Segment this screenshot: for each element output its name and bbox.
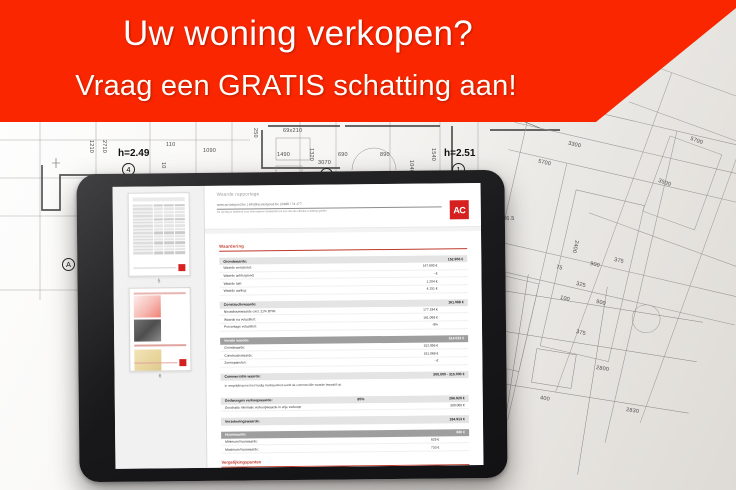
commercial-value-note: In vergelijking met het huidig marktaanb…: [221, 378, 469, 392]
tablet-screen: 5: [113, 183, 484, 469]
block-commerciele-waarde: Commerciële waarde: 300.000 - 315.000 € …: [220, 371, 468, 392]
blueprint-dim-890: 890: [380, 152, 390, 158]
blueprint-dim-10: 10: [160, 162, 166, 169]
block-label: Gedwongen verkoopwaarde:: [225, 398, 273, 403]
row-label: Waarde na vetustiteit:: [224, 315, 418, 321]
blueprint-dim-1090: 1090: [203, 148, 216, 154]
row-value: 147.600 €: [417, 264, 463, 268]
thumbnail-page-number-2: 6: [159, 373, 162, 379]
block-gedwongen-verkoopwaarde: Gedwongen verkoopwaarde: 85% 266.920 € G…: [221, 395, 469, 412]
blueprint-dim-110: 110: [166, 142, 175, 148]
block-label: Huurwaarde:: [225, 433, 246, 437]
advert-image: h=2.49 4 h=2.51 1 7 A 1210 2710 110 1090…: [0, 0, 736, 490]
pdf-page-view[interactable]: Waarde rapportage www.acvastgoed.be | in…: [205, 183, 484, 468]
blueprint-dim-690: 690: [338, 152, 348, 158]
blueprint-height-right: h=2.51: [444, 148, 475, 159]
block-header: Verzekeringswaarde: 194.913 €: [221, 416, 469, 426]
blueprint-dim-1320: 1320: [308, 148, 314, 161]
row-value: 161.068 €: [418, 315, 464, 319]
row-value: 300.000 €: [419, 403, 465, 407]
block-constructiewaarde: Constructiewaarde: 161.068 € Nieuwbouwwa…: [220, 299, 468, 332]
blueprint-dim-2710: 2710: [101, 140, 107, 153]
table-row: Zonnepanelen: - €: [220, 357, 468, 367]
blueprint-marker-a: A: [62, 258, 75, 271]
blueprint-dim-69x210: 69x210: [283, 128, 302, 134]
row-value: 152.956 €: [418, 343, 464, 347]
row-label: Minimum huurwaarde:: [225, 438, 419, 444]
blueprint-roll-dim-75: 75: [555, 264, 563, 271]
thumbnail-image-grid-page[interactable]: [128, 287, 191, 372]
thumb-logo-icon: [178, 264, 185, 271]
block-venale-waarde: Venale waarde: 314.023 € Grondwaarde: 15…: [220, 335, 468, 368]
row-value: - €: [418, 358, 464, 362]
block-label: Verzekeringswaarde:: [225, 419, 260, 423]
block-total: 194.913 €: [449, 417, 465, 421]
row-value: 629 €: [419, 437, 465, 441]
row-value: 1.204 €: [418, 279, 464, 283]
row-label: Waarde achtergrond:: [223, 272, 417, 278]
blueprint-dim-1210: 1210: [88, 140, 94, 153]
row-label: Waarde aanleg:: [224, 287, 418, 293]
block-grondwaarde: Grondwaarde: 152.956 € Waarde voorgrond:…: [219, 255, 467, 295]
table-row: Geschatte minimale verkoopwaarde in vrij…: [221, 402, 469, 412]
blueprint-dim-1490: 1490: [277, 152, 290, 158]
row-label: Waarde voorgrond:: [223, 264, 417, 270]
row-label: Zonnepanelen:: [224, 359, 418, 365]
block-total: 161.068 €: [448, 300, 464, 304]
tablet-device: 5: [76, 170, 507, 482]
table-row: Waarde aanleg: 4.151 €: [220, 285, 468, 295]
block-verzekeringswaarde: Verzekeringswaarde: 194.913 €: [221, 416, 469, 426]
block-total: 660 €: [456, 430, 465, 434]
document-title: Waarde rapportage: [217, 189, 469, 197]
thumb-cadastral-map: [133, 295, 160, 317]
document-disclaimer: Dit verslag is bestemd voor informatieve…: [217, 208, 442, 213]
banner-subheadline: Vraag een GRATIS schatting aan!: [0, 70, 592, 103]
thumb-footer: [133, 264, 185, 272]
row-label: Maximum huurwaarde:: [225, 445, 419, 451]
pdf-thumbnail-rail[interactable]: 5: [113, 186, 208, 469]
block-label: Venale waarde:: [224, 339, 249, 343]
ac-logo: AC: [450, 200, 469, 219]
blueprint-height-left: h=2.49: [118, 148, 149, 159]
section-heading-waardering: Waardering: [219, 241, 467, 252]
thumbnail-item-page6[interactable]: 6: [114, 287, 206, 380]
banner-headline: Uw woning verkopen?: [0, 14, 596, 54]
table-row: Maximum huurwaarde: 733 €: [221, 444, 469, 454]
block-percentage: 85%: [338, 397, 384, 401]
document-body: Waardering Grondwaarde: 152.956 € Waarde…: [205, 231, 483, 468]
row-label: Nieuwbouwwaarde excl. 21% BTW:: [224, 308, 418, 314]
row-value: -9%: [418, 322, 464, 326]
blueprint-dim-250: 250: [252, 128, 258, 138]
row-label: Waarde tuin:: [224, 279, 418, 285]
block-total: 314.023 €: [449, 336, 465, 340]
block-label: Constructiewaarde:: [224, 303, 257, 307]
document-header: Waarde rapportage www.acvastgoed.be | in…: [205, 183, 481, 222]
row-value: - €: [417, 271, 463, 275]
block-label: Grondwaarde:: [223, 259, 247, 263]
row-value: 177.194 €: [418, 307, 464, 311]
section-heading-vergelijkingspunten: Vergelijkingspunten: [221, 457, 469, 468]
block-huurwaarde: Huurwaarde: 660 € Minimum huurwaarde: 62…: [221, 429, 469, 454]
thumbnail-item-page5[interactable]: 5: [113, 192, 205, 285]
row-value: 733 €: [419, 445, 465, 449]
block-total: 300.000 - 315.000 €: [433, 372, 464, 376]
row-label: Grondwaarde:: [224, 344, 418, 350]
row-value: 4.151 €: [418, 286, 464, 290]
blueprint-dim-1540: 1540: [430, 148, 436, 161]
thumb-table: [132, 204, 185, 254]
thumb-logo-icon-2: [179, 359, 186, 366]
table-row: Percentage vetustiteit: -9%: [220, 321, 468, 331]
blueprint-dim-3070: 3070: [318, 160, 331, 166]
thumbnail-table-page[interactable]: [127, 192, 190, 277]
row-label: Constructiewaarde:: [224, 351, 418, 357]
thumbnail-page-number: 5: [158, 278, 161, 284]
thumb-aerial-photo: [133, 319, 160, 341]
block-total: 266.920 €: [449, 396, 465, 400]
thumb-footer-2: [134, 359, 186, 367]
row-label: Geschatte minimale verkoopwaarde in vrij…: [225, 404, 419, 410]
row-value: 161.068 €: [418, 351, 464, 355]
thumb-title-bar: [132, 197, 184, 202]
row-label: Percentage vetustiteit:: [224, 323, 418, 329]
block-total: 152.956 €: [448, 257, 464, 261]
block-label: Commerciële waarde:: [225, 374, 261, 378]
